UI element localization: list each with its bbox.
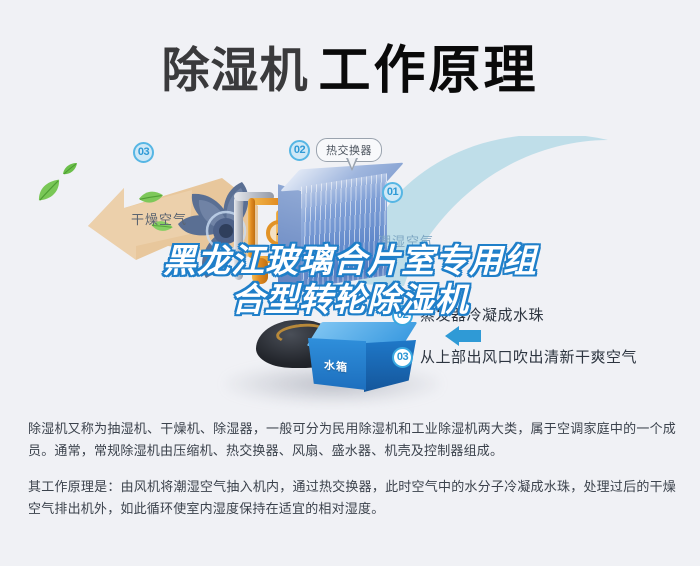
body-copy: 除湿机又称为抽湿机、干燥机、除湿器，一般可分为民用除湿机和工业除湿机两大类，属于…	[28, 418, 676, 520]
humid-air-label: 潮湿空气	[378, 231, 434, 250]
coil-pipe	[248, 198, 255, 258]
body-paragraph-1: 除湿机又称为抽湿机、干燥机、除湿器，一般可分为民用除湿机和工业除湿机两大类，属于…	[28, 418, 676, 462]
page-root: 除湿机工作原理	[0, 0, 700, 566]
step-line-outlet-text: 从上部出风口吹出清新干爽空气	[420, 349, 637, 366]
illustration-stage: ▲ ▼ ► 水箱 03 干燥空气	[0, 118, 700, 410]
page-title: 除湿机工作原理	[0, 28, 700, 103]
callout-tail	[346, 158, 358, 171]
leaf-icon	[62, 162, 78, 176]
step-line-outlet: 03从上部出风口吹出清新干爽空气	[392, 346, 637, 368]
water-tank-label: 水箱	[324, 357, 348, 376]
dehumidifier-machine: ▲ ▼ ► 水箱	[238, 152, 453, 377]
leaf-icon	[34, 178, 64, 203]
page-title-dark: 工作原理	[319, 42, 539, 100]
heat-exchanger-fins	[301, 173, 387, 289]
accumulator	[252, 258, 268, 284]
step-line-condense: 02蒸发器冷凝成水珠	[392, 304, 544, 326]
air-intake-arrow-icon	[445, 326, 481, 346]
dry-air-label: 干燥空气	[131, 209, 187, 228]
body-paragraph-2: 其工作原理是：由风机将潮湿空气抽入机内，通过热交换器，此时空气中的水分子冷凝成水…	[28, 476, 676, 520]
step-badge-02: 02	[392, 305, 413, 326]
step-badge-03: 03	[392, 347, 413, 368]
step-badge-humid-air: 01	[382, 182, 403, 203]
step-line-condense-text: 蒸发器冷凝成水珠	[420, 307, 544, 324]
page-title-light: 除湿机	[161, 45, 308, 98]
suction-pipe	[234, 196, 243, 280]
step-badge-heat-exchanger: 02	[289, 140, 310, 161]
heat-exchanger-slab	[301, 173, 387, 289]
step-badge-dry-air: 03	[133, 142, 154, 163]
